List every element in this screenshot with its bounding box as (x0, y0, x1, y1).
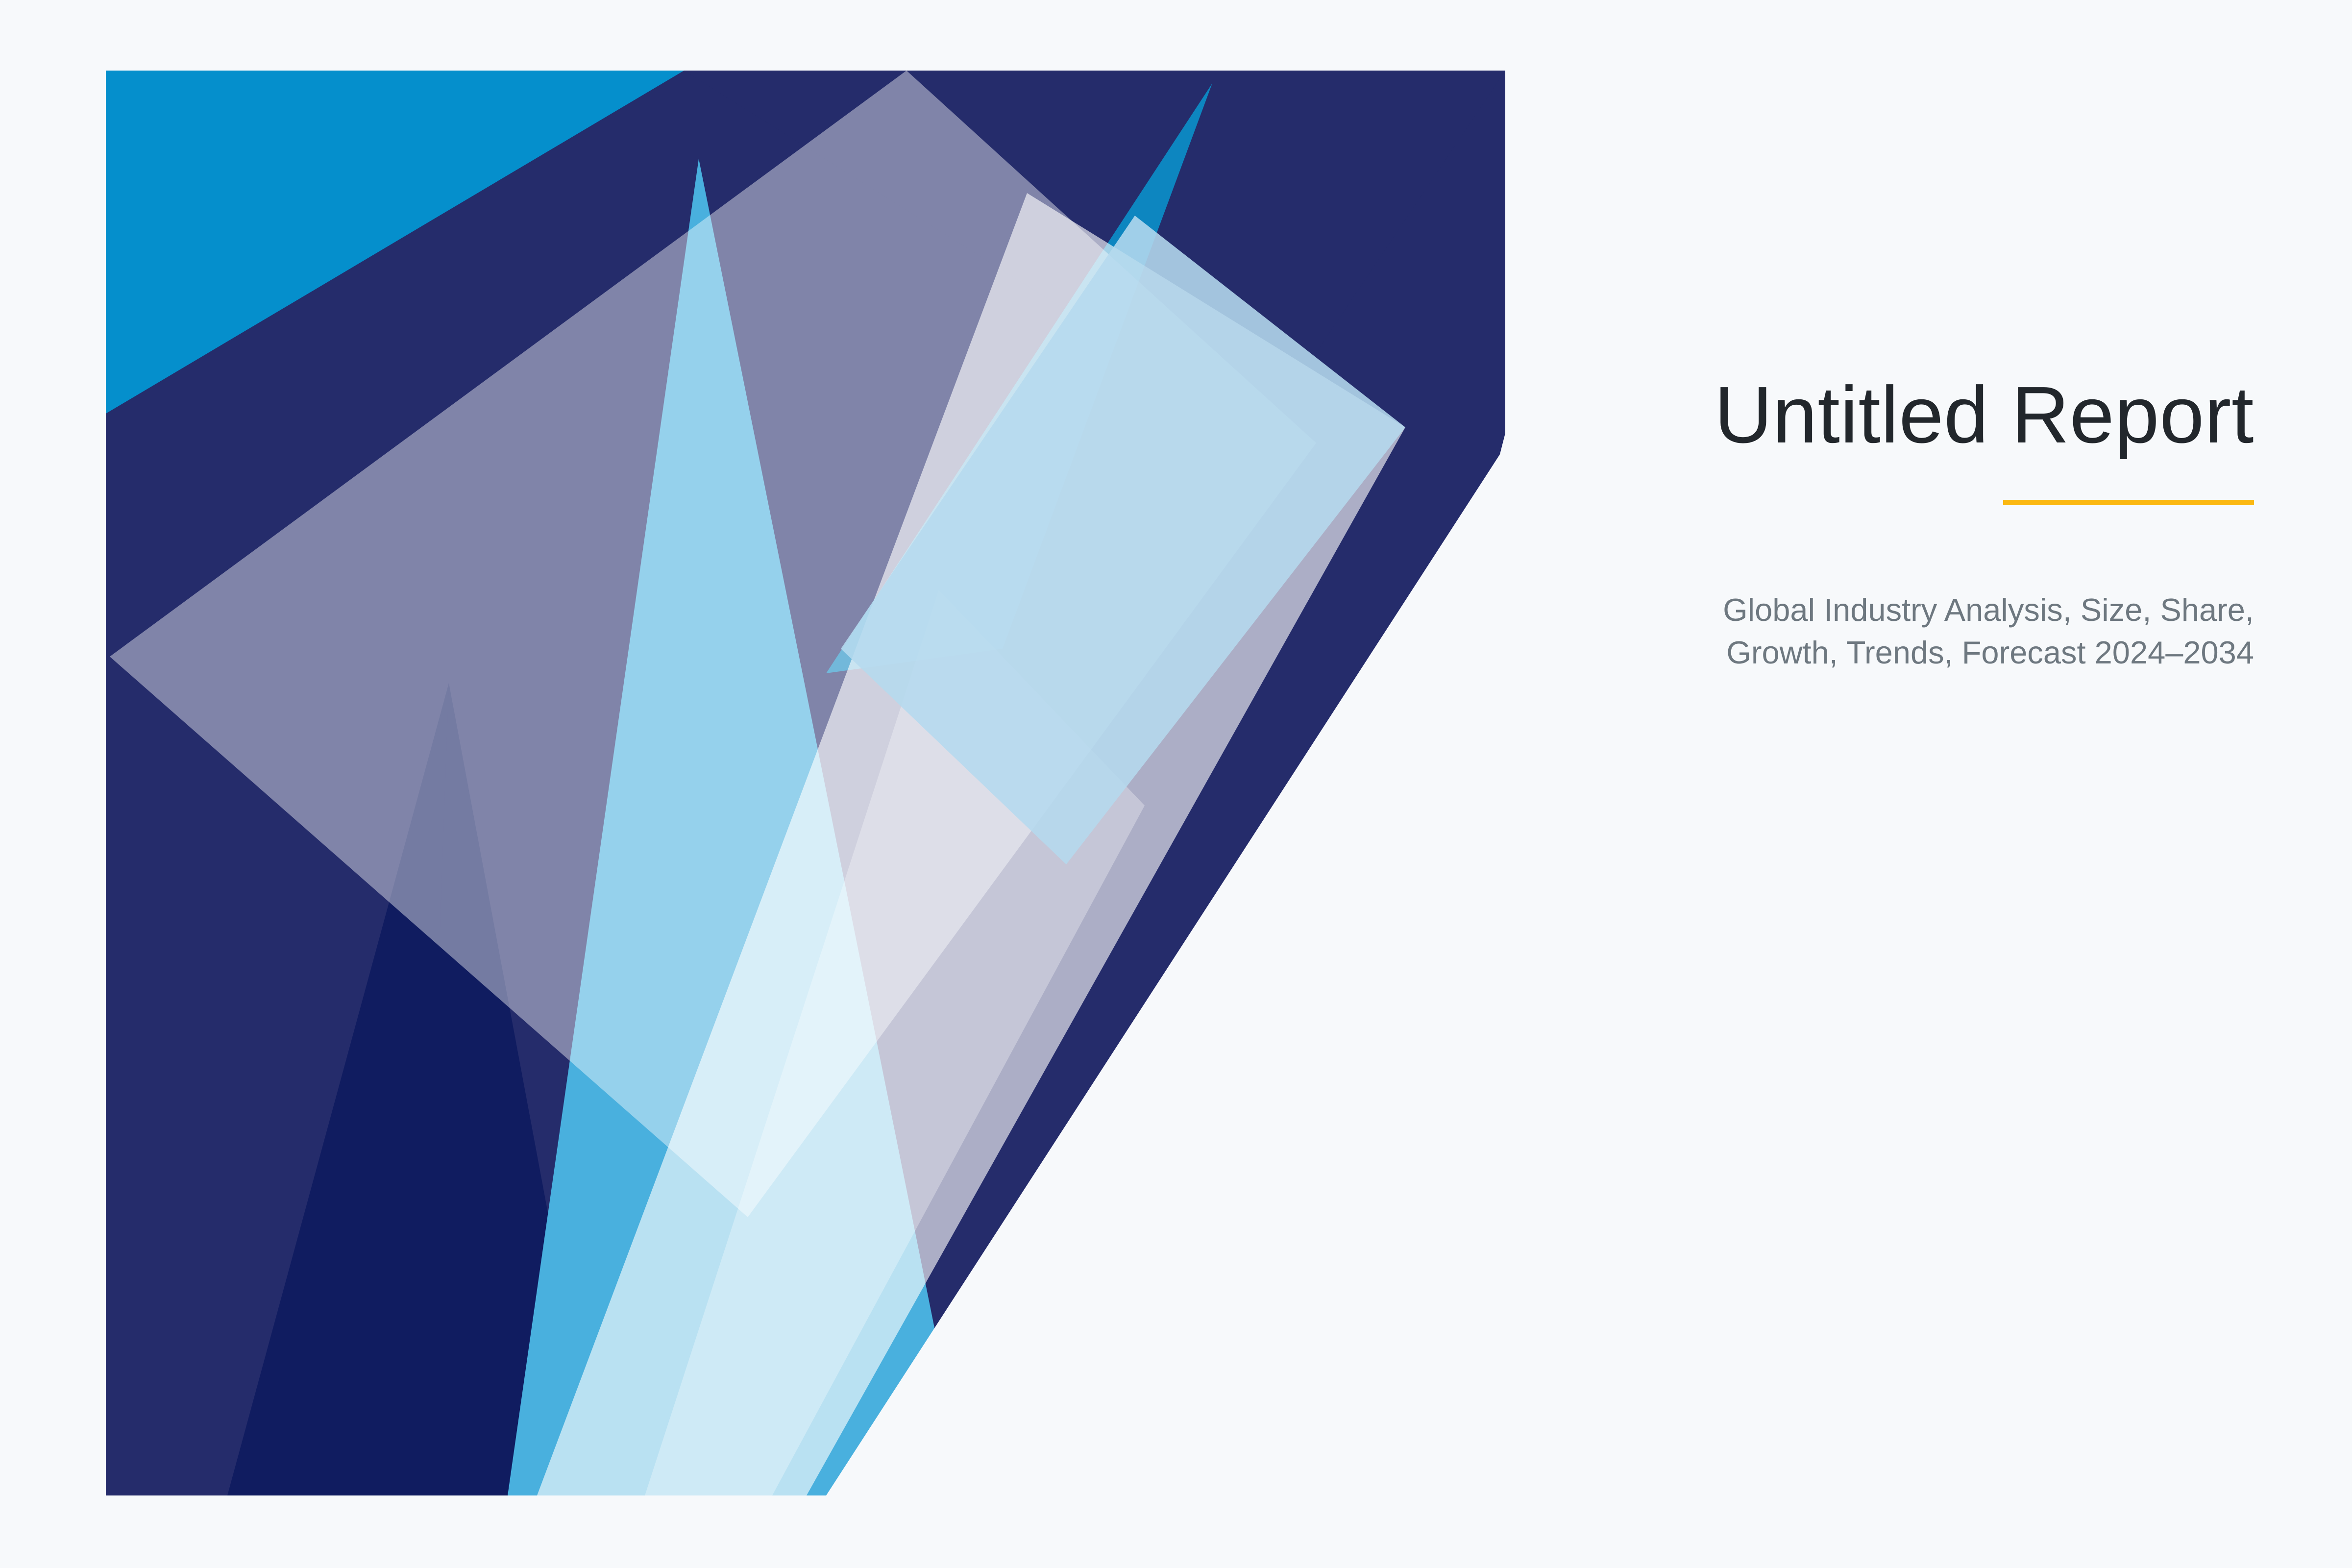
page-subtitle: Global Industry Analysis, Size, Share, G… (1558, 588, 2254, 674)
cover-artwork (106, 71, 1507, 1495)
report-cover-page: Untitled Report Global Industry Analysis… (0, 0, 2352, 1568)
subtitle-line-1: Global Industry Analysis, Size, Share, (1558, 588, 2254, 631)
abstract-geometric-graphic (106, 71, 1507, 1495)
title-rule-wrapper (1558, 500, 2254, 505)
cover-text-block: Untitled Report Global Industry Analysis… (1558, 372, 2254, 674)
title-accent-rule (2003, 500, 2254, 505)
page-title: Untitled Report (1558, 372, 2254, 458)
subtitle-line-2: Growth, Trends, Forecast 2024–2034 (1558, 631, 2254, 674)
